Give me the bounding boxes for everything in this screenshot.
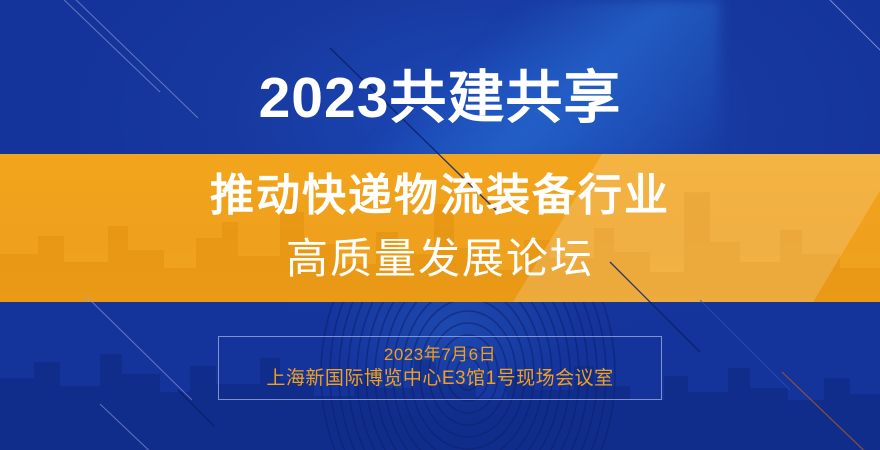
event-info-box: 2023年7月6日 上海新国际博览中心E3馆1号现场会议室 <box>218 336 662 400</box>
conference-poster: 2023共建共享 推动快递物流装备行业 高质量发展论坛 2023年7月6日 上海… <box>0 0 880 450</box>
event-date: 2023年7月6日 <box>384 344 496 366</box>
subtitle-line-2: 高质量发展论坛 <box>0 233 880 285</box>
subtitle-line-1: 推动快递物流装备行业 <box>0 169 880 223</box>
page-title: 2023共建共享 <box>0 64 880 132</box>
event-venue: 上海新国际博览中心E3馆1号现场会议室 <box>266 366 613 392</box>
